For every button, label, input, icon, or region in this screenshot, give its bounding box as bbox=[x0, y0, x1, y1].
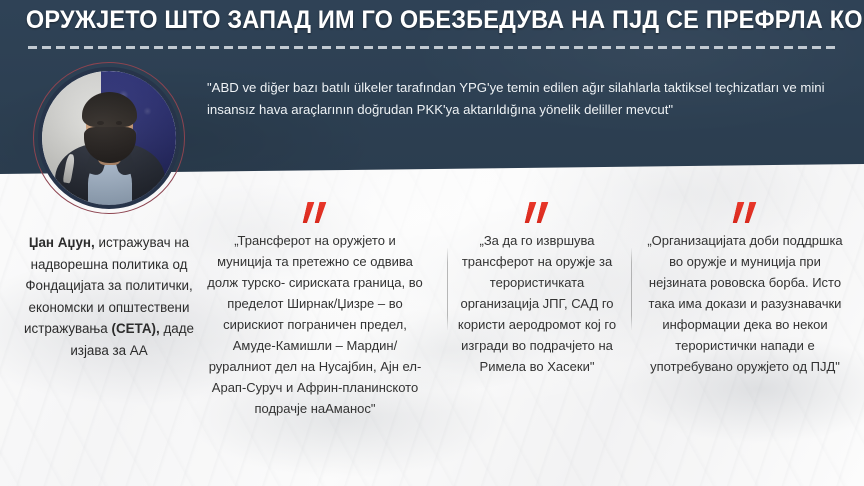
column-attribution: Џан Аџун, истражувач на надворешна полит… bbox=[18, 190, 200, 361]
quote-columns: Џан Аџун, истражувач на надворешна полит… bbox=[0, 190, 864, 486]
column-quote-2: „За да го извршува трансферот на оружје … bbox=[452, 190, 622, 377]
quote-mark-icon bbox=[524, 190, 550, 224]
page-title: ОРУЖЈЕТО ШТО ЗАПАД ИМ ГО ОБЕЗБЕДУВА НА П… bbox=[26, 6, 838, 35]
column-divider bbox=[631, 248, 632, 330]
column-quote-1: „Трансферот на оружјето и муниција та пр… bbox=[205, 190, 425, 419]
avatar bbox=[33, 62, 185, 214]
turkish-quote-text: "ABD ve diğer bazı batılı ülkeler tarafı… bbox=[207, 77, 847, 121]
quote-text: „Организацијата доби поддршка во оружје … bbox=[647, 233, 842, 374]
avatar-inner-ring bbox=[38, 67, 180, 209]
quote-mark-icon bbox=[302, 190, 328, 224]
title-dashed-divider bbox=[28, 46, 836, 49]
column-quote-3: „Организацијата доби поддршка во оружје … bbox=[645, 190, 845, 377]
quote-mark-icon bbox=[732, 190, 758, 224]
column-divider bbox=[447, 248, 448, 330]
quote-text: „За да го извршува трансферот на оружје … bbox=[458, 233, 616, 374]
portrait-photo bbox=[42, 71, 176, 205]
quote-text: „Трансферот на оружјето и муниција та пр… bbox=[207, 233, 422, 416]
speaker-name: Џан Аџун, bbox=[29, 235, 95, 250]
infographic-root: ОРУЖЈЕТО ШТО ЗАПАД ИМ ГО ОБЕЗБЕДУВА НА П… bbox=[0, 0, 864, 486]
speaker-institution-abbr: (СЕТА), bbox=[111, 321, 159, 336]
photo-shading-overlay bbox=[42, 71, 176, 205]
